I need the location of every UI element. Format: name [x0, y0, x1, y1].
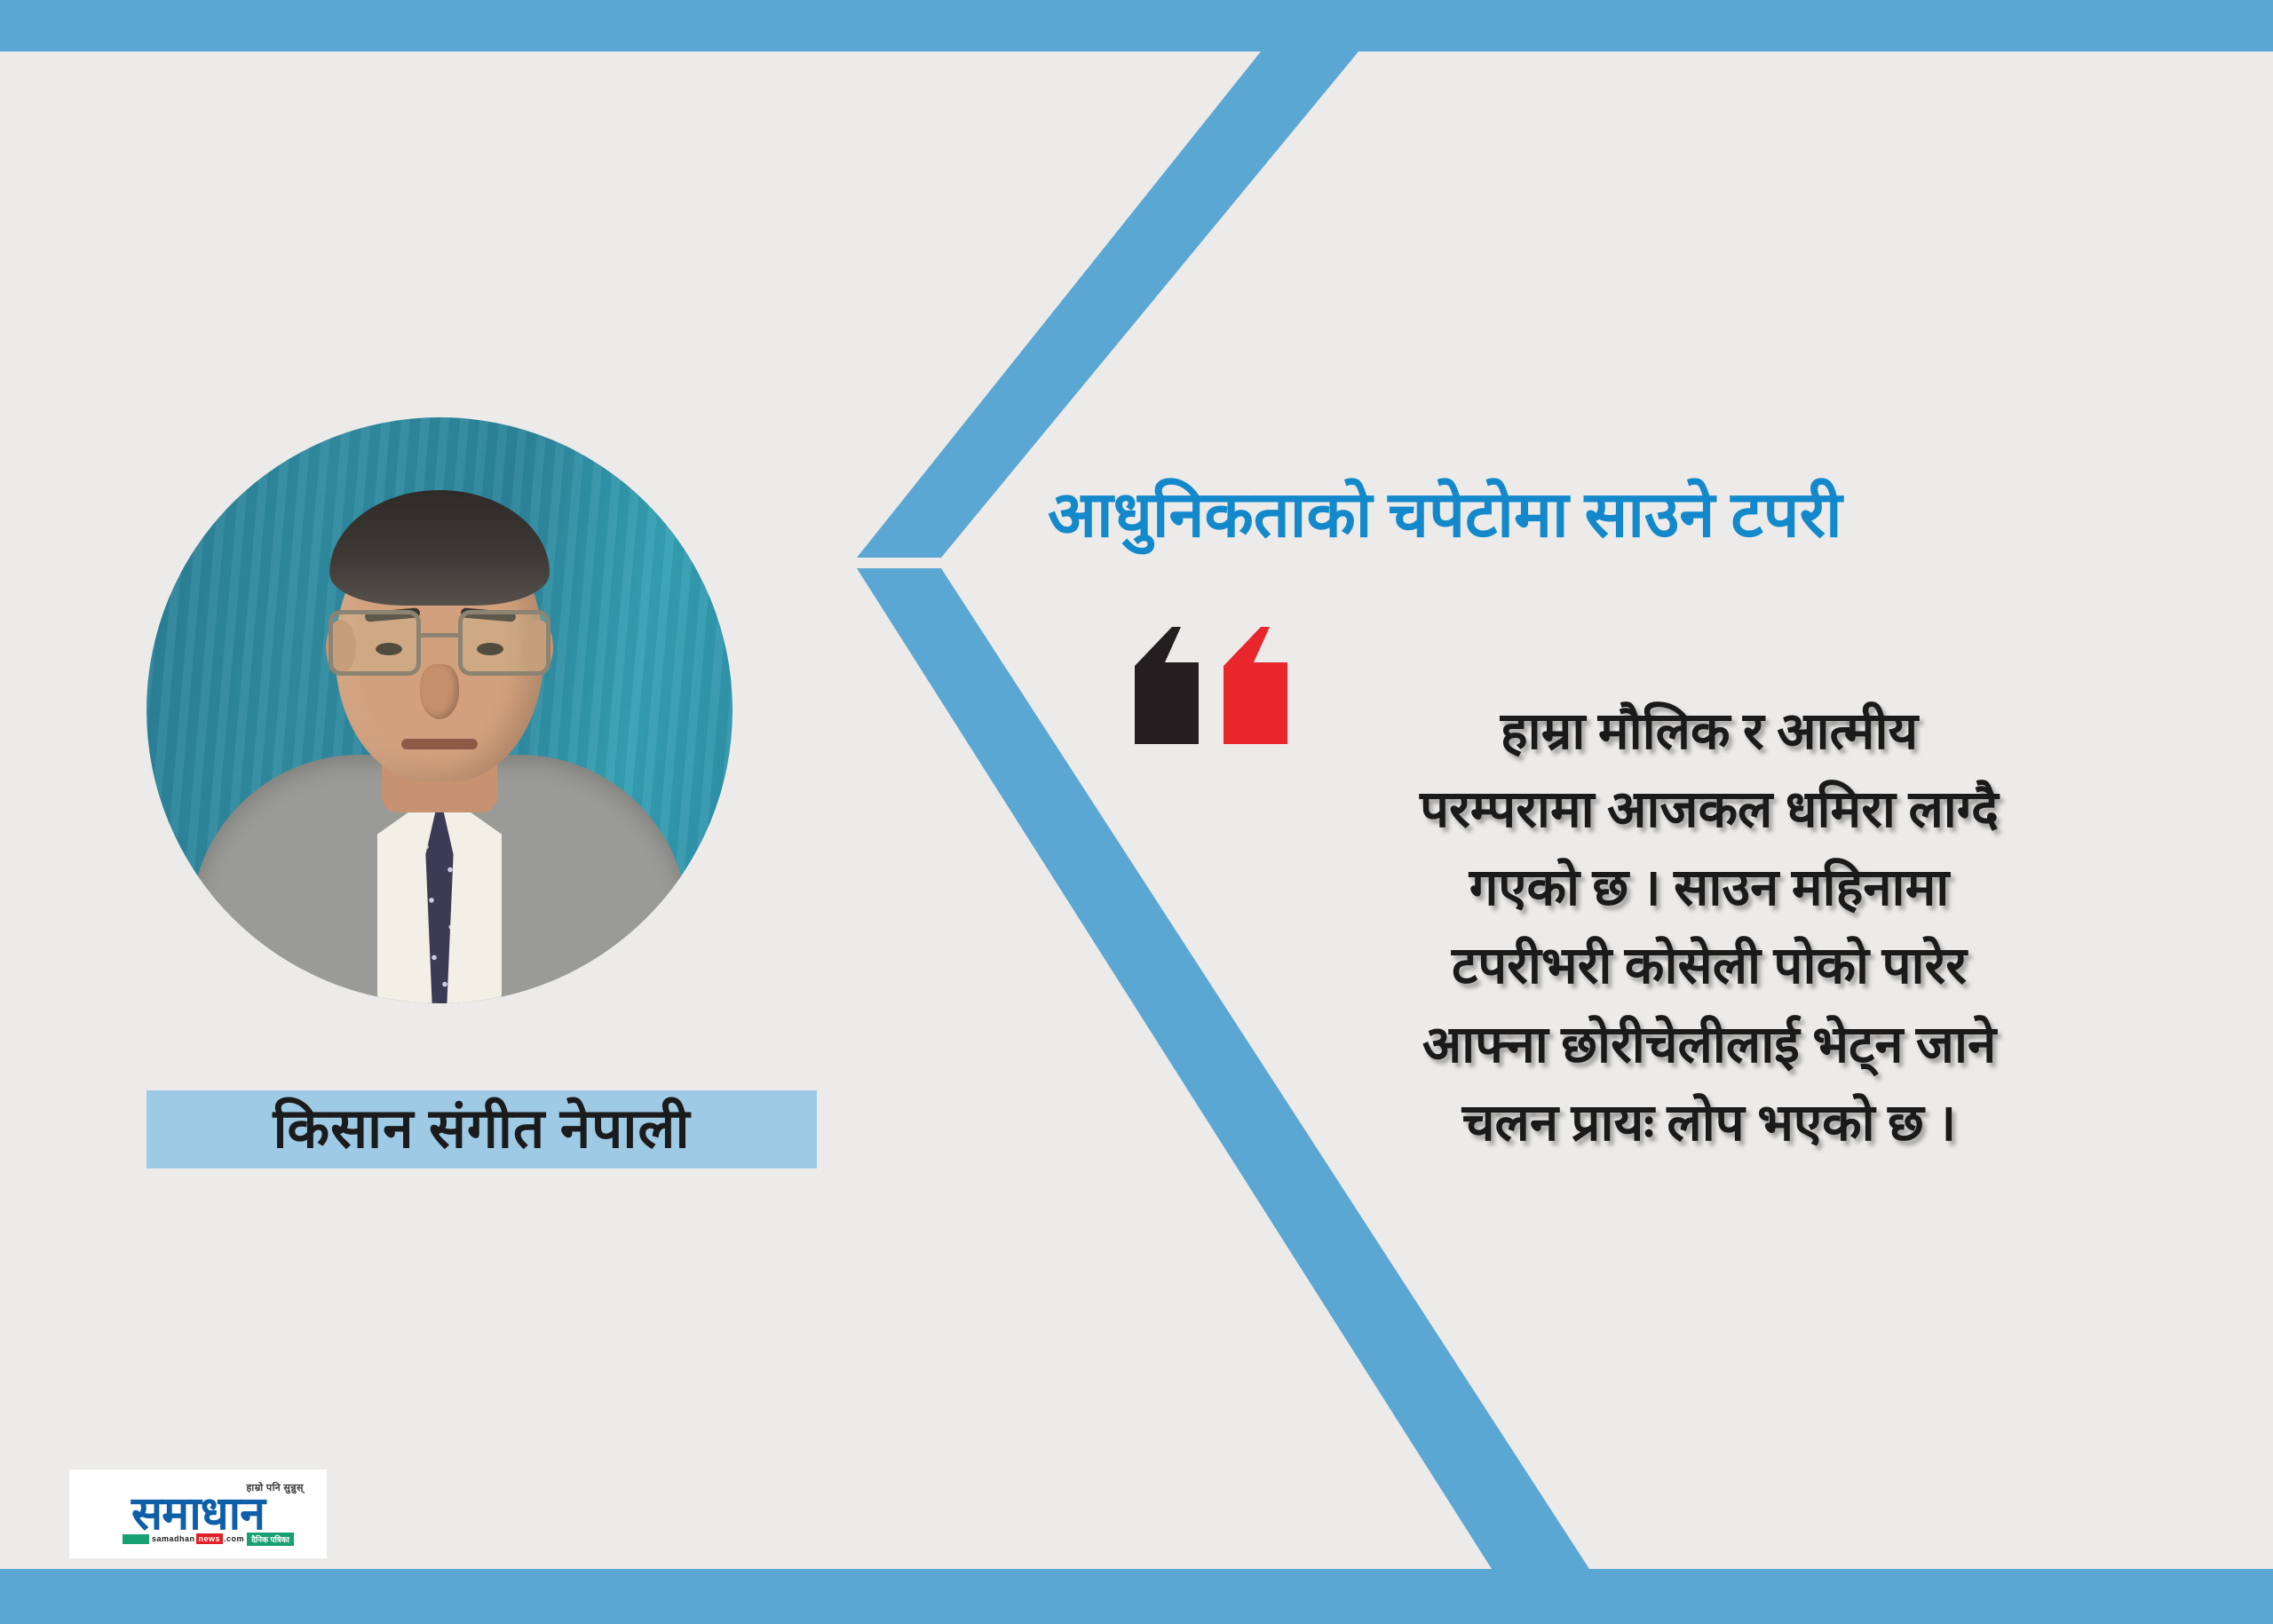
quote-line: हाम्रा मौलिक र आत्मीय [1172, 693, 2246, 771]
logo-url-strip: samadhan news .com दैनिक पत्रिका [76, 1533, 320, 1545]
page-title: आधुनिकताको चपेटोमा साउने टपरी [1048, 479, 2229, 551]
publisher-logo[interactable]: हाम्रो पनि सुन्नुस् समाधान samadhan news… [69, 1470, 327, 1558]
eyeglass-bridge [421, 633, 458, 638]
top-accent-bar [0, 0, 2273, 51]
speaker-name: किसान संगीत नेपाली [273, 1102, 690, 1157]
logo-url-prefix: samadhan [152, 1534, 195, 1543]
logo-badge: दैनिक पत्रिका [247, 1533, 294, 1546]
quote-line: चलन प्रायः लोप भएको छ । [1172, 1084, 2246, 1162]
logo-url-highlight: news [196, 1533, 224, 1544]
quote-text: हाम्रा मौलिक र आत्मीय परम्परामा आजकल धमि… [1172, 693, 2246, 1162]
logo-wordmark: समाधान [131, 1493, 265, 1536]
logo-green-block-left [123, 1534, 149, 1544]
portrait-nose [420, 664, 459, 719]
eyeglass-lens-right [458, 610, 550, 676]
bottom-accent-bar [0, 1569, 2273, 1624]
logo-url: samadhan news .com [152, 1533, 244, 1544]
quote-line: परम्परामा आजकल धमिरा लाग्दै [1172, 771, 2246, 849]
poster-canvas: किसान संगीत नेपाली आधुनिकताको चपेटोमा सा… [0, 0, 2273, 1624]
quote-line: टपरीभरी कोसेली पोको पारेर [1172, 927, 2246, 1005]
speaker-name-plate: किसान संगीत नेपाली [147, 1090, 817, 1168]
quote-line: गएको छ । साउन महिनामा [1172, 849, 2246, 927]
quote-line: आफ्ना छोरीचेलीलाई भेट्न जाने [1172, 1006, 2246, 1084]
portrait-mouth [401, 739, 478, 749]
logo-url-suffix: .com [224, 1534, 244, 1543]
portrait-photo [147, 417, 733, 1003]
eyeglass-lens-left [329, 610, 421, 676]
